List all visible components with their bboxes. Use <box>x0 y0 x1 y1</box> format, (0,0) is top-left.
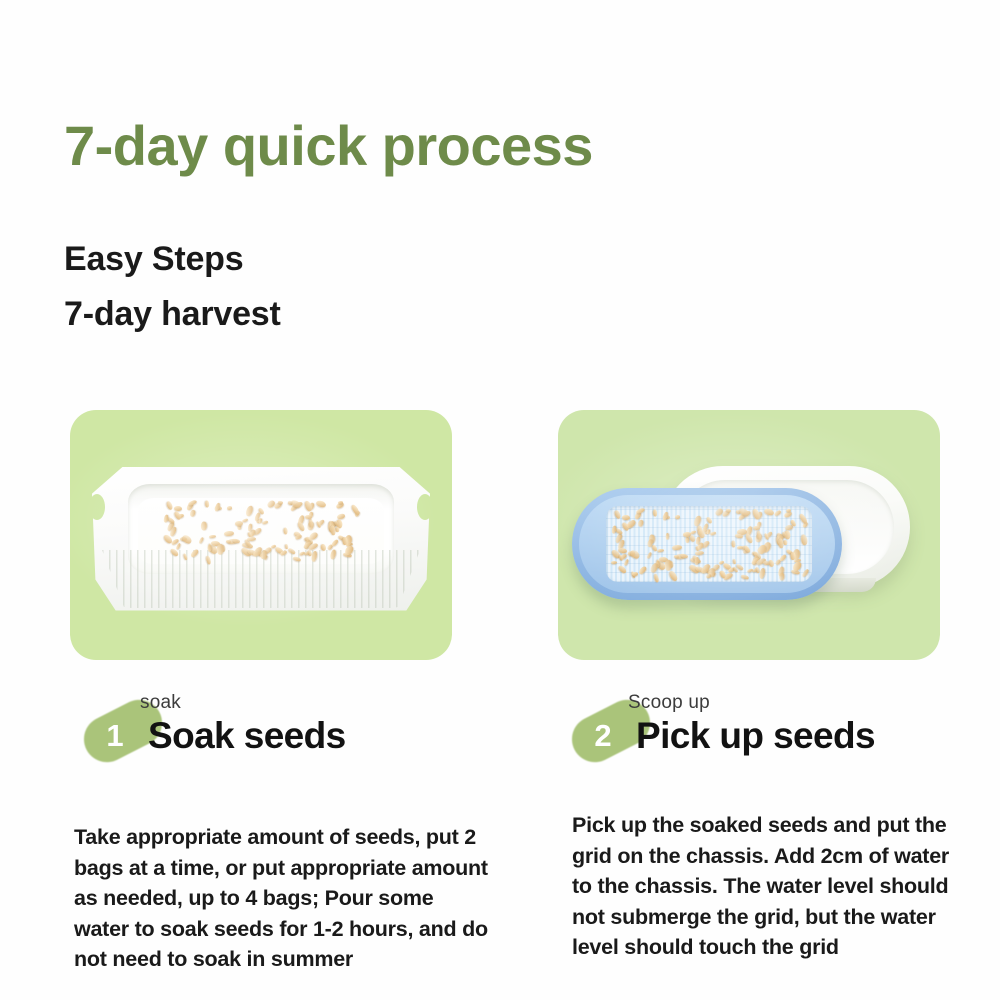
seed <box>741 574 750 580</box>
seed <box>189 548 198 557</box>
seed <box>664 560 672 571</box>
seed <box>646 552 652 559</box>
seed <box>737 546 743 549</box>
step-number-2: 2 <box>585 720 621 751</box>
step-1-label-row: 1 soak Soak seeds <box>70 692 452 778</box>
seed <box>756 530 761 540</box>
seed <box>706 516 713 524</box>
seed <box>773 509 781 516</box>
poster-root: 7-day quick process Easy Steps 7-day har… <box>0 0 1000 1000</box>
seed <box>653 509 657 516</box>
white-rect-tray-illustration <box>92 464 430 612</box>
seed <box>304 515 311 519</box>
seed <box>311 551 318 562</box>
seed <box>735 533 743 538</box>
seed <box>181 534 193 546</box>
seed <box>304 499 313 511</box>
seed <box>657 548 665 552</box>
seed <box>183 553 188 560</box>
seed <box>227 505 233 509</box>
seed <box>331 538 339 546</box>
seed <box>209 534 217 538</box>
subtitle-line-1: Easy Steps <box>64 232 281 287</box>
seed <box>637 519 644 527</box>
seed <box>779 553 787 561</box>
seed <box>763 560 771 565</box>
step-1-photo <box>70 410 452 660</box>
seed <box>261 520 267 524</box>
seed <box>189 509 196 517</box>
seed <box>244 505 253 517</box>
seed <box>792 560 803 572</box>
seed <box>614 509 622 519</box>
step-2-body: Pick up the soaked seeds and put the gri… <box>572 810 952 963</box>
seed <box>330 549 337 560</box>
seed <box>278 500 284 504</box>
seed <box>336 527 340 532</box>
seed <box>296 520 306 532</box>
seed <box>216 544 224 555</box>
seed <box>205 501 209 508</box>
step-card-2: 2 Scoop up Pick up seeds Pick up the soa… <box>558 410 940 660</box>
soaked-seeds-cluster <box>162 500 362 562</box>
seed <box>731 540 736 547</box>
page-title: 7-day quick process <box>64 117 593 176</box>
seed <box>650 562 659 574</box>
seed <box>801 569 810 579</box>
blue-grid-tray-illustration <box>572 488 842 600</box>
seed <box>632 572 638 576</box>
step-2-photo <box>558 410 940 660</box>
seed <box>315 499 327 508</box>
subtitle-line-2: 7-day harvest <box>64 287 281 342</box>
seed <box>351 503 361 515</box>
step-number-1: 1 <box>97 720 133 751</box>
subtitle-block: Easy Steps 7-day harvest <box>64 232 281 342</box>
seed <box>618 564 628 574</box>
seed <box>675 514 681 518</box>
seed <box>665 533 668 540</box>
step-2-label-row: 2 Scoop up Pick up seeds <box>558 692 940 778</box>
seed <box>637 565 646 574</box>
seed <box>293 556 302 562</box>
seed <box>283 527 288 534</box>
seeds-on-grid-cluster <box>610 508 810 580</box>
seed <box>801 534 808 546</box>
seed <box>198 537 204 544</box>
seed <box>685 536 689 542</box>
seed <box>224 531 234 537</box>
seed <box>623 558 629 565</box>
seed <box>235 520 243 525</box>
seed <box>709 531 715 535</box>
seed <box>622 515 630 520</box>
seed <box>330 525 336 536</box>
seed <box>166 500 174 510</box>
seed <box>320 544 327 552</box>
seed <box>752 508 761 520</box>
seed <box>201 521 207 531</box>
step-2-title: Pick up seeds <box>636 716 875 757</box>
step-1-kicker: soak <box>140 692 181 714</box>
seed <box>784 540 788 545</box>
seed <box>247 536 257 541</box>
seed <box>187 499 196 506</box>
seed <box>175 543 181 550</box>
seed <box>779 573 785 581</box>
seed <box>759 568 766 579</box>
seed <box>629 548 641 560</box>
seed <box>763 508 775 517</box>
seed <box>744 533 754 545</box>
seed <box>752 526 759 530</box>
seed <box>799 512 809 524</box>
seed <box>287 547 295 554</box>
seed <box>726 508 732 512</box>
step-card-1: 1 soak Soak seeds Take appropriate amoun… <box>70 410 452 660</box>
step-1-title: Soak seeds <box>148 716 346 757</box>
step-1-body: Take appropriate amount of seeds, put 2 … <box>74 822 488 975</box>
seed <box>611 561 617 564</box>
step-2-kicker: Scoop up <box>628 692 710 714</box>
seed <box>672 544 682 550</box>
